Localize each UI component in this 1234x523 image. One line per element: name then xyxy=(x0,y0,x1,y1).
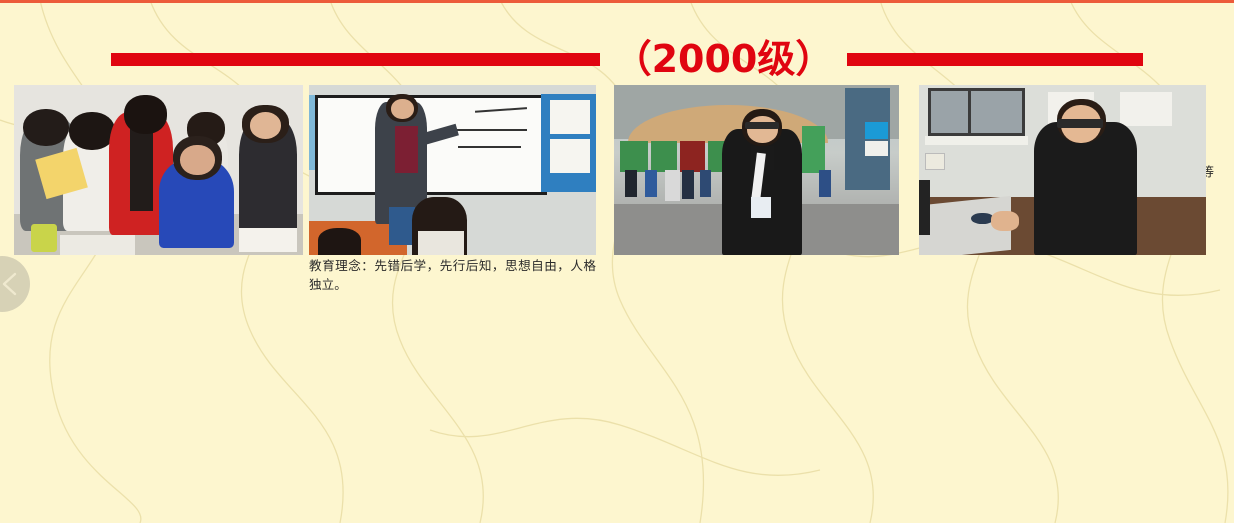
photo-gu-jie-classroom xyxy=(14,85,303,255)
profile-card-luo-yingxin: 罗应昕 重庆市茄子溪中学语文教师，重庆市高中语文骨干教师。 重庆市高中语文课程改… xyxy=(306,85,609,523)
title-rule-right xyxy=(847,53,1143,66)
profile-card-gu-jie: 古杰 重庆市荣昌中学校语文教师，重庆市骨干教师。 重庆市中青年教师语文优质课大赛… xyxy=(0,85,306,523)
profiles-grid: 古杰 重庆市荣昌中学校语文教师，重庆市骨干教师。 重庆市中青年教师语文优质课大赛… xyxy=(0,85,1234,523)
profile-card-xiong-jiong: 熊炯 重庆市聚奎中学校语文教师，江津区骨干教师。 实践翻转课堂教学改革获重庆市教… xyxy=(912,85,1234,523)
section-title-row: （2000级） xyxy=(0,33,1234,85)
page-title: （2000级） xyxy=(614,40,834,78)
top-accent-rule xyxy=(0,0,1234,3)
chevron-left-icon xyxy=(0,271,20,297)
title-rule-left xyxy=(111,53,600,66)
photo-qin-yajun-street xyxy=(614,85,899,255)
profile-philosophy: 教育理念：先错后学，先行后知，思想自由，人格独立。 xyxy=(309,256,596,294)
slide-page: （2000级） 古杰 重庆市荣昌中学校语文教师，重庆市骨干教师。 重庆市中青年教… xyxy=(0,0,1234,523)
photo-xiong-jiong-desk xyxy=(919,85,1206,255)
photo-luo-yingxin-whiteboard xyxy=(309,85,596,255)
profile-card-qin-yajun: 秦雅军 重庆市合川区南屏中学党总支书记、校长。 主研2个市级课题；重庆市“优秀共… xyxy=(609,85,912,523)
